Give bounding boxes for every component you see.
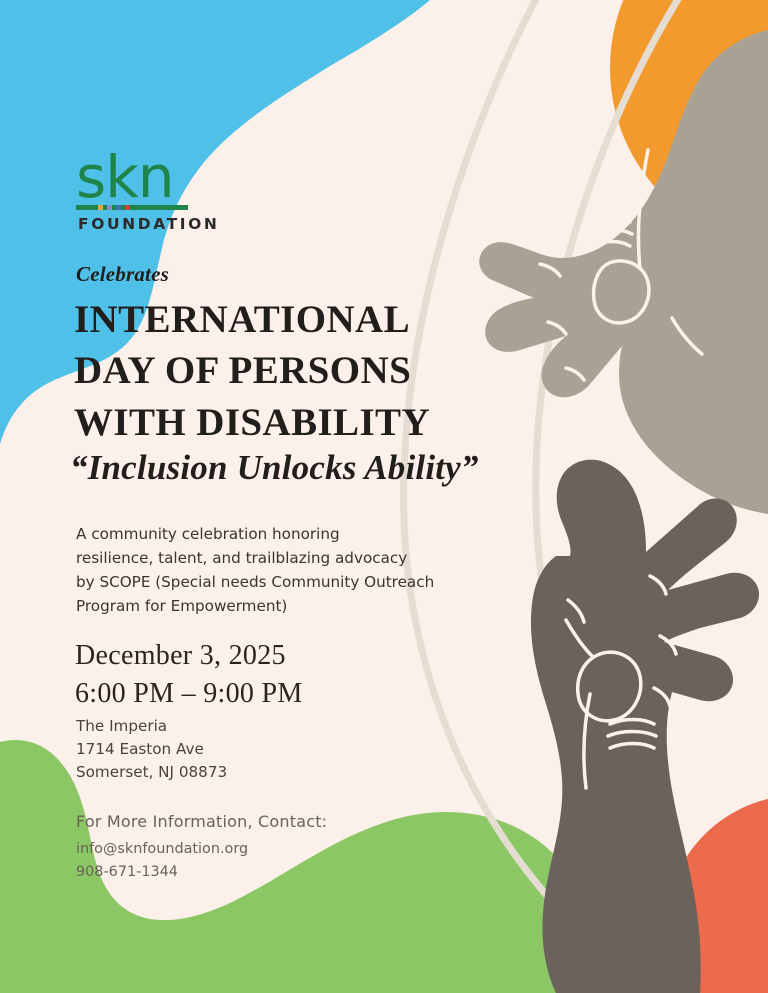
- logo-dot-purple: [107, 205, 112, 210]
- contact-block: For More Information, Contact: info@sknf…: [76, 812, 327, 884]
- venue-name: The Imperia: [76, 715, 227, 738]
- logo-dots: [98, 205, 130, 210]
- event-title-line-3: WITH DISABILITY: [74, 397, 544, 448]
- description-line-3: by SCOPE (Special needs Community Outrea…: [76, 570, 496, 594]
- event-title-line-2: DAY OF PERSONS: [74, 345, 544, 396]
- venue-city-state-zip: Somerset, NJ 08873: [76, 761, 227, 784]
- event-time: 6:00 PM – 9:00 PM: [75, 675, 303, 713]
- event-venue: The Imperia 1714 Easton Ave Somerset, NJ…: [76, 715, 227, 784]
- description-line-4: Program for Empowerment): [76, 594, 496, 618]
- poster-canvas: skn FOUNDATION Celebrates INTERNATIONAL …: [0, 0, 768, 993]
- venue-street: 1714 Easton Ave: [76, 738, 227, 761]
- logo-mark-text: skn: [74, 152, 304, 203]
- description-line-1: A community celebration honoring: [76, 522, 496, 546]
- celebrates-eyebrow: Celebrates: [76, 262, 169, 287]
- skn-foundation-logo: skn FOUNDATION: [74, 152, 304, 233]
- contact-email[interactable]: info@sknfoundation.org: [76, 838, 327, 861]
- contact-heading: For More Information, Contact:: [76, 812, 327, 831]
- event-title: INTERNATIONAL DAY OF PERSONS WITH DISABI…: [74, 294, 544, 448]
- event-date: December 3, 2025: [75, 637, 303, 675]
- logo-dot-orange: [98, 205, 103, 210]
- logo-rule: [76, 205, 188, 210]
- logo-dot-blue: [116, 205, 121, 210]
- event-datetime: December 3, 2025 6:00 PM – 9:00 PM: [75, 637, 303, 713]
- logo-dot-red: [125, 205, 130, 210]
- description-line-2: resilience, talent, and trailblazing adv…: [76, 546, 496, 570]
- event-title-line-1: INTERNATIONAL: [74, 294, 544, 345]
- event-tagline: “Inclusion Unlocks Ability”: [70, 448, 479, 488]
- event-description: A community celebration honoring resilie…: [76, 522, 496, 618]
- logo-wordmark: FOUNDATION: [78, 215, 304, 233]
- contact-phone[interactable]: 908-671-1344: [76, 861, 327, 884]
